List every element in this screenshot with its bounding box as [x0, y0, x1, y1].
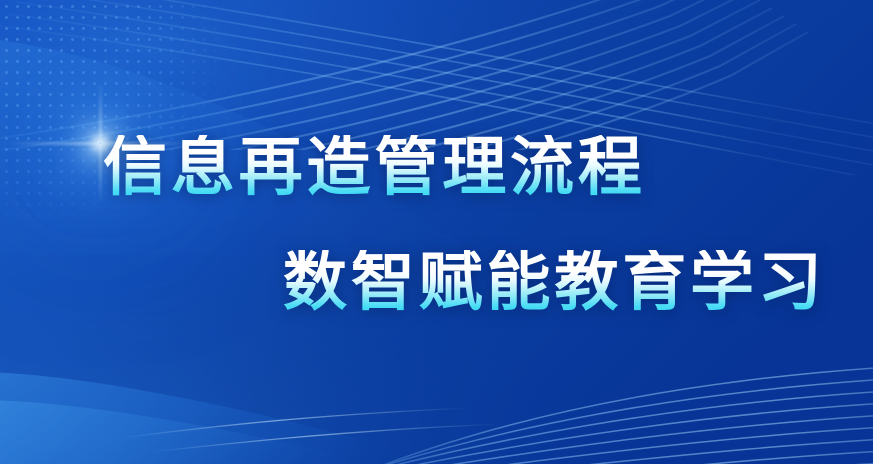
banner-canvas: 信息再造管理流程 数智赋能教育学习: [0, 0, 873, 464]
light-flare-glow: [100, 143, 101, 144]
headline-line-1: 信息再造管理流程: [103, 135, 646, 199]
bottom-wave-shape-decoration: [0, 0, 873, 464]
headline-line-2: 数智赋能教育学习: [283, 250, 826, 314]
top-arc-lines-decoration: [0, 0, 873, 464]
wave-highlight-strokes-decoration: [0, 0, 873, 464]
background-gradient-layer: [0, 0, 873, 464]
bottom-arc-lines-decoration: [0, 0, 873, 464]
top-ribbon-arcs-decoration: [0, 0, 873, 464]
diagonal-light-band-decoration: [0, 0, 873, 464]
